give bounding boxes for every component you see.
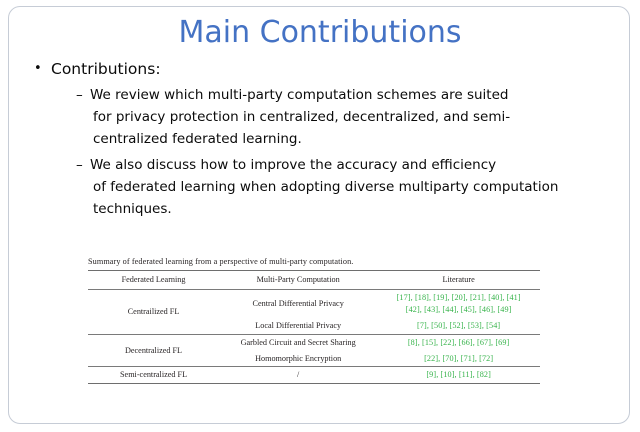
cell-multi-party-computation: / bbox=[219, 367, 377, 383]
cell-literature: [9], [10], [11], [82] bbox=[377, 367, 540, 383]
bullet-level2-item: – We review which multi-party computatio… bbox=[76, 85, 614, 151]
table-bottom-rule bbox=[88, 383, 540, 384]
bullet-line: of federated learning when adopting dive… bbox=[90, 177, 614, 199]
cell-multi-party-computation: Garbled Circuit and Secret Sharing bbox=[219, 334, 377, 350]
bullet-line: We also discuss how to improve the accur… bbox=[90, 157, 496, 173]
slide-root: Main Contributions • Contributions: – We… bbox=[0, 0, 640, 432]
literature-line: [42], [43], [44], [45], [46], [49] bbox=[377, 304, 540, 316]
cell-multi-party-computation: Central Differential Privacy bbox=[219, 289, 377, 317]
literature-line: [8], [15], [22], [66], [67], [69] bbox=[377, 337, 540, 349]
federated-learning-table: Federated Learning Multi-Party Computati… bbox=[88, 270, 540, 383]
bullet-line: techniques. bbox=[90, 199, 614, 221]
cell-literature: [7], [50], [52], [53], [54] bbox=[377, 318, 540, 334]
column-header-federated-learning: Federated Learning bbox=[88, 271, 219, 290]
literature-line: [7], [50], [52], [53], [54] bbox=[377, 320, 540, 332]
table-row: Semi-centralized FL / [9], [10], [11], [… bbox=[88, 367, 540, 383]
cell-multi-party-computation: Homomorphic Encryption bbox=[219, 351, 377, 367]
bullet-level2-item: – We also discuss how to improve the acc… bbox=[76, 155, 614, 221]
cell-literature: [22], [70], [71], [72] bbox=[377, 351, 540, 367]
cell-federated-learning: Semi-centralized FL bbox=[88, 367, 219, 383]
page-title: Main Contributions bbox=[0, 16, 640, 49]
bullet-line: for privacy protection in centralized, d… bbox=[90, 107, 614, 129]
bullet-level2-text: We review which multi-party computation … bbox=[90, 85, 614, 151]
column-header-multi-party-computation: Multi-Party Computation bbox=[219, 271, 377, 290]
cell-literature: [17], [18], [19], [20], [21], [40], [41]… bbox=[377, 289, 540, 317]
cell-federated-learning: Centrailized FL bbox=[88, 289, 219, 334]
table-row: Decentralized FL Garbled Circuit and Sec… bbox=[88, 334, 540, 350]
slide-body: • Contributions: – We review which multi… bbox=[34, 60, 614, 225]
literature-line: [9], [10], [11], [82] bbox=[377, 369, 540, 381]
table-header-row: Federated Learning Multi-Party Computati… bbox=[88, 271, 540, 290]
bullet-level1: • Contributions: bbox=[34, 60, 614, 79]
bullet-level1-text: Contributions: bbox=[51, 60, 161, 79]
table-section-semi-centralized: Semi-centralized FL / [9], [10], [11], [… bbox=[88, 367, 540, 383]
table-section-centralized: Centrailized FL Central Differential Pri… bbox=[88, 289, 540, 334]
cell-federated-learning: Decentralized FL bbox=[88, 334, 219, 367]
dash-marker-icon: – bbox=[76, 155, 90, 177]
literature-line: [22], [70], [71], [72] bbox=[377, 353, 540, 365]
summary-figure: Summary of federated learning from a per… bbox=[88, 256, 540, 384]
dash-marker-icon: – bbox=[76, 85, 90, 107]
bullet-level2-text: We also discuss how to improve the accur… bbox=[90, 155, 614, 221]
table-header: Federated Learning Multi-Party Computati… bbox=[88, 271, 540, 290]
bullet-level2-group: – We review which multi-party computatio… bbox=[76, 85, 614, 220]
bullet-marker-icon: • bbox=[34, 60, 51, 78]
table-row: Centrailized FL Central Differential Pri… bbox=[88, 289, 540, 317]
bullet-line: centralized federated learning. bbox=[90, 129, 614, 151]
table-section-decentralized: Decentralized FL Garbled Circuit and Sec… bbox=[88, 334, 540, 367]
literature-line: [17], [18], [19], [20], [21], [40], [41] bbox=[377, 292, 540, 304]
cell-multi-party-computation: Local Differential Privacy bbox=[219, 318, 377, 334]
column-header-literature: Literature bbox=[377, 271, 540, 290]
bullet-line: We review which multi-party computation … bbox=[90, 87, 508, 103]
figure-caption: Summary of federated learning from a per… bbox=[88, 256, 540, 267]
cell-literature: [8], [15], [22], [66], [67], [69] bbox=[377, 334, 540, 350]
